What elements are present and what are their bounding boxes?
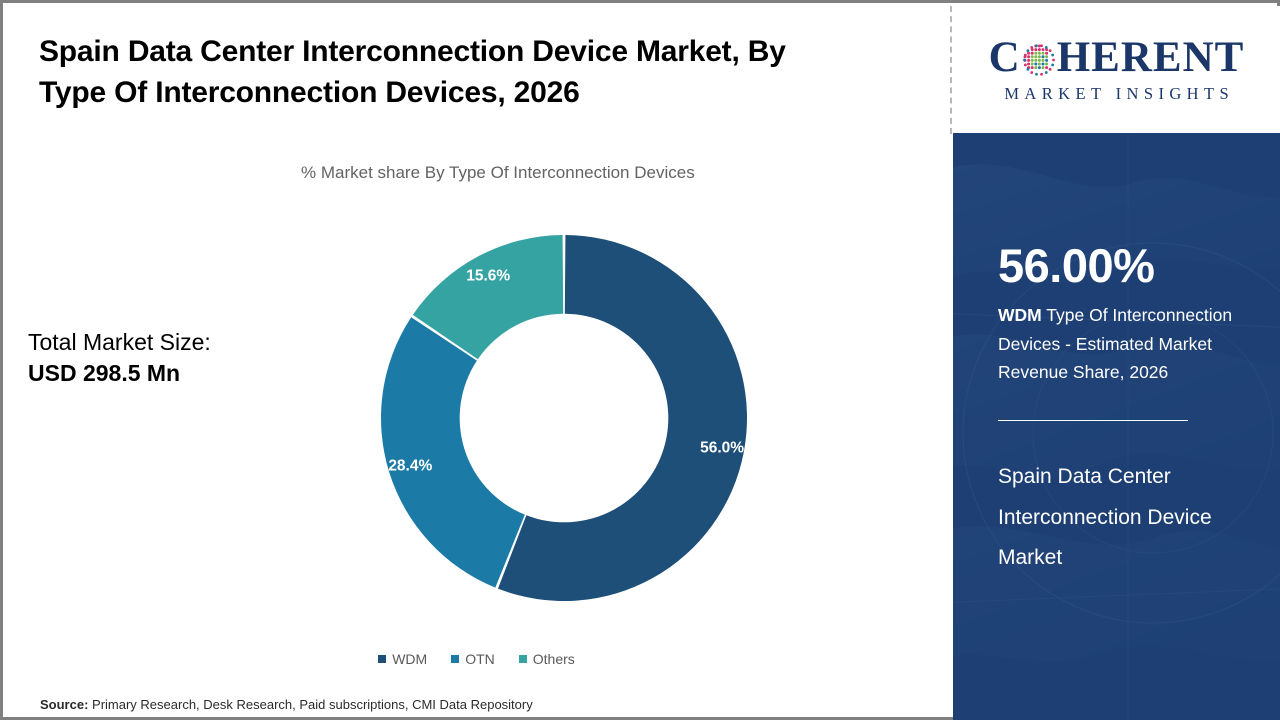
donut-chart: 56.0%28.4%15.6% xyxy=(373,225,763,615)
globe-dot xyxy=(1051,64,1054,67)
globe-dot xyxy=(1038,48,1041,51)
globe-dot xyxy=(1041,52,1044,55)
legend-swatch-icon xyxy=(519,655,527,663)
globe-dot xyxy=(1030,59,1033,62)
dotted-globe-icon xyxy=(1022,42,1056,76)
globe-dot xyxy=(1045,71,1048,74)
globe-dot xyxy=(1045,59,1048,62)
globe-dot xyxy=(1030,71,1033,74)
globe-dot xyxy=(1034,52,1037,55)
logo-tagline: MARKET INSIGHTS xyxy=(999,84,1234,104)
globe-dot xyxy=(1045,52,1048,55)
globe-dot xyxy=(1023,59,1026,62)
donut-slice-group xyxy=(381,235,747,601)
globe-dot xyxy=(1026,49,1029,52)
highlight-divider xyxy=(998,420,1188,421)
globe-dot xyxy=(1045,63,1048,66)
highlight-panel-content: 56.00% WDM Type Of Interconnection Devic… xyxy=(953,133,1280,720)
globe-dot xyxy=(1030,52,1033,55)
globe-dot xyxy=(1030,66,1033,69)
globe-dot xyxy=(1045,66,1048,69)
donut-data-label-otn: 28.4% xyxy=(388,457,432,474)
source-note-label: Source: xyxy=(40,697,88,712)
donut-slice-otn xyxy=(381,317,525,587)
globe-dot xyxy=(1030,46,1033,49)
highlight-percent: 56.00% xyxy=(998,241,1242,290)
globe-dot xyxy=(1034,63,1037,66)
legend-item-wdm[interactable]: WDM xyxy=(378,651,427,667)
chart-legend: WDMOTNOthers xyxy=(3,651,950,667)
total-market-size-label: Total Market Size: xyxy=(28,327,318,358)
globe-dot xyxy=(1034,48,1037,51)
total-market-size: Total Market Size: USD 298.5 Mn xyxy=(28,327,318,390)
globe-dot xyxy=(1052,59,1055,62)
total-market-size-value: USD 298.5 Mn xyxy=(28,358,318,389)
globe-dot xyxy=(1041,66,1044,69)
globe-dot xyxy=(1041,59,1044,62)
globe-dot xyxy=(1045,55,1048,58)
globe-dot xyxy=(1030,55,1033,58)
legend-swatch-icon xyxy=(451,655,459,663)
globe-dot xyxy=(1041,55,1044,58)
globe-dot xyxy=(1027,55,1030,58)
globe-dot xyxy=(1048,49,1051,52)
globe-dot xyxy=(1027,63,1030,66)
highlight-segment-name: WDM xyxy=(998,305,1042,325)
infographic-page: Spain Data Center Interconnection Device… xyxy=(0,0,1280,720)
globe-dot xyxy=(1038,66,1041,69)
globe-dot xyxy=(1041,63,1044,66)
logo-word-herent: HERENT xyxy=(1057,36,1245,79)
globe-dot xyxy=(1040,44,1043,47)
page-title: Spain Data Center Interconnection Device… xyxy=(39,31,849,114)
chart-panel: Spain Data Center Interconnection Device… xyxy=(3,3,950,717)
globe-dot xyxy=(1027,59,1030,62)
legend-label: WDM xyxy=(392,651,427,667)
globe-dot xyxy=(1041,48,1044,51)
globe-dot xyxy=(1030,63,1033,66)
source-note-text: Primary Research, Desk Research, Paid su… xyxy=(88,697,532,712)
source-note: Source: Primary Research, Desk Research,… xyxy=(40,697,533,712)
globe-dot xyxy=(1024,64,1027,67)
globe-dot xyxy=(1035,73,1038,76)
highlight-market-name: Spain Data Center Interconnection Device… xyxy=(998,457,1242,579)
globe-dot xyxy=(1038,52,1041,55)
globe-dot xyxy=(1040,73,1043,76)
legend-swatch-icon xyxy=(378,655,386,663)
donut-data-label-wdm: 56.0% xyxy=(700,440,744,457)
globe-dot xyxy=(1038,59,1041,62)
donut-chart-svg: 56.0%28.4%15.6% xyxy=(373,225,763,615)
globe-dot xyxy=(1045,46,1048,49)
highlight-panel: 56.00% WDM Type Of Interconnection Devic… xyxy=(953,133,1280,720)
globe-dot xyxy=(1034,55,1037,58)
globe-dot xyxy=(1051,54,1054,57)
globe-dot xyxy=(1038,63,1041,66)
legend-label: OTN xyxy=(465,651,495,667)
globe-dot xyxy=(1026,68,1029,71)
globe-dot xyxy=(1024,54,1027,57)
logo: C HERENT MARKET INSIGHTS xyxy=(953,6,1280,133)
brand-panel: C HERENT MARKET INSIGHTS xyxy=(953,6,1280,720)
globe-dot xyxy=(1034,59,1037,62)
logo-wordmark: C HERENT xyxy=(989,36,1245,79)
dotted-globe-svg xyxy=(1022,43,1056,77)
legend-item-otn[interactable]: OTN xyxy=(451,651,495,667)
panel-divider xyxy=(950,6,952,134)
globe-dot xyxy=(1035,44,1038,47)
globe-dot xyxy=(1048,68,1051,71)
legend-label: Others xyxy=(533,651,575,667)
chart-subtitle: % Market share By Type Of Interconnectio… xyxy=(301,162,901,184)
globe-dot xyxy=(1038,55,1041,58)
logo-letter-c: C xyxy=(989,36,1021,79)
highlight-description: WDM Type Of Interconnection Devices - Es… xyxy=(998,301,1242,386)
legend-item-others[interactable]: Others xyxy=(519,651,575,667)
globe-dot xyxy=(1027,52,1030,55)
donut-data-label-others: 15.6% xyxy=(466,267,510,284)
globe-dot xyxy=(1034,66,1037,69)
